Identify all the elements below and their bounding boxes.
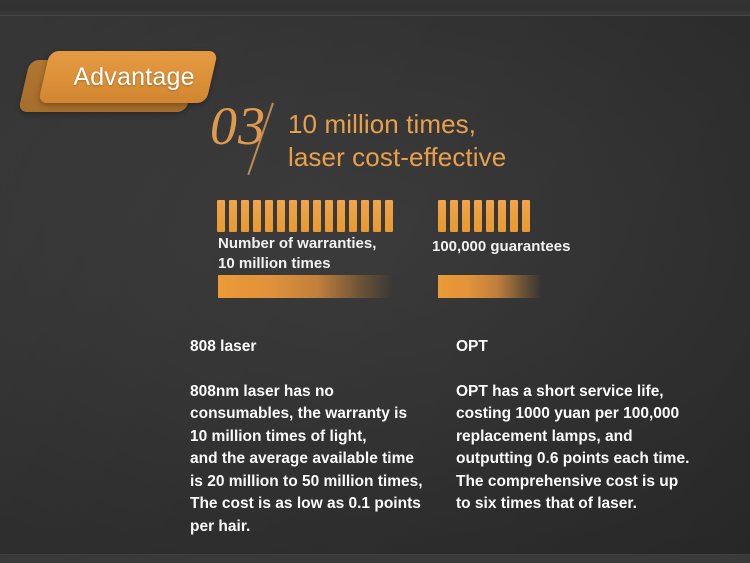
tick-mark <box>337 200 345 232</box>
tick-mark <box>241 200 249 232</box>
slide-canvas: Advantage 03 10 million times, laser cos… <box>0 0 750 563</box>
tick-mark <box>301 200 309 232</box>
tick-mark <box>277 200 285 232</box>
tick-group-opt <box>438 200 530 232</box>
column-text-laser: 808 laser 808nm laser has no consumables… <box>190 313 450 561</box>
tick-mark <box>349 200 357 232</box>
page-title-line-1: 10 million times, <box>288 108 506 141</box>
tick-mark <box>313 200 321 232</box>
tick-group-laser <box>217 200 393 232</box>
metric-caption-opt: 100,000 guarantees <box>432 237 570 257</box>
advantage-badge: Advantage <box>24 48 224 120</box>
tick-mark <box>253 200 261 232</box>
metric-caption-laser: Number of warranties, 10 million times <box>218 234 376 274</box>
tick-mark <box>373 200 381 232</box>
tick-mark <box>438 200 446 232</box>
badge-label: Advantage <box>54 51 214 103</box>
tick-mark <box>361 200 369 232</box>
column-body-opt: OPT has a short service life, costing 10… <box>456 381 722 516</box>
tick-mark <box>450 200 458 232</box>
tick-mark <box>265 200 273 232</box>
fade-bar-opt <box>438 275 546 298</box>
page-title: 10 million times, laser cost-effective <box>288 108 506 174</box>
tick-mark <box>474 200 482 232</box>
column-text-opt: OPT OPT has a short service life, costin… <box>456 313 722 538</box>
tick-mark <box>510 200 518 232</box>
column-title-opt: OPT <box>456 336 722 359</box>
column-body-laser: 808nm laser has no consumables, the warr… <box>190 381 450 539</box>
tick-mark <box>217 200 225 232</box>
tick-mark <box>289 200 297 232</box>
tick-mark <box>498 200 506 232</box>
tick-mark <box>385 200 393 232</box>
tick-mark <box>486 200 494 232</box>
slide-top-edge <box>0 0 750 16</box>
column-title-laser: 808 laser <box>190 336 450 359</box>
tick-mark <box>229 200 237 232</box>
tick-mark <box>325 200 333 232</box>
page-title-line-2: laser cost-effective <box>288 141 506 174</box>
tick-mark <box>522 200 530 232</box>
tick-mark <box>462 200 470 232</box>
fade-bar-laser <box>218 275 400 298</box>
